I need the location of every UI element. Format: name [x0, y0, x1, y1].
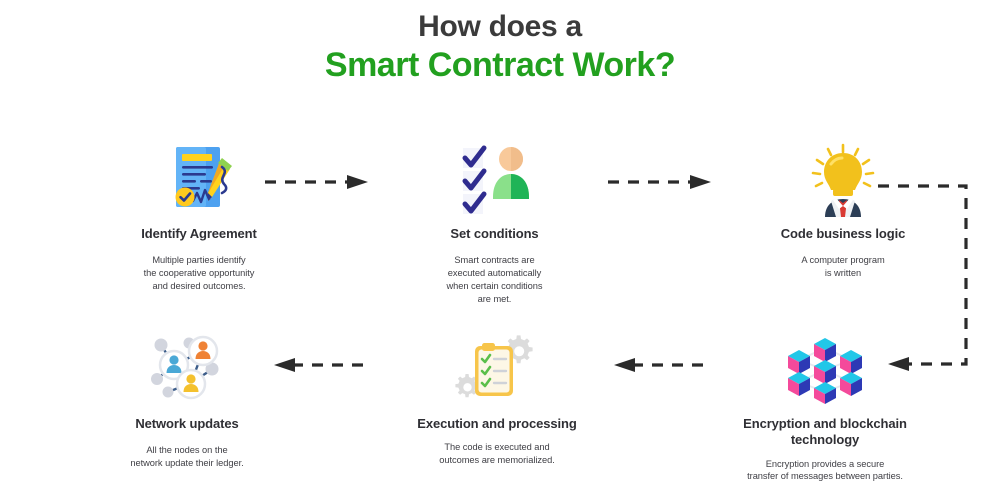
step-set-conditions: Set conditions Smart contracts areexecut…	[402, 140, 587, 306]
step-description: Encryption provides a securetransfer of …	[700, 458, 950, 484]
step-description: The code is executed andoutcomes are mem…	[392, 441, 602, 467]
page-title: How does a Smart Contract Work?	[0, 10, 1000, 85]
step-network-updates: Network updates All the nodes on thenetw…	[72, 330, 302, 470]
step-title: Identify Agreement	[79, 226, 319, 242]
step-title: Code business logic	[718, 226, 968, 242]
title-line-1: How does a	[0, 10, 1000, 43]
blockchain-cubes-icon	[700, 330, 950, 410]
clipboard-gears-icon	[392, 330, 602, 410]
title-line-2: Smart Contract Work?	[0, 46, 1000, 85]
step-identify-agreement: Identify Agreement Multiple parties iden…	[79, 140, 319, 293]
step-title: Execution and processing	[392, 416, 602, 432]
arrow-step2-to-step3	[608, 172, 713, 192]
arrow-step6-to-step5	[612, 355, 712, 375]
checklist-person-icon	[402, 140, 587, 220]
signed-document-pen-icon	[79, 140, 319, 220]
step-description: A computer programis written	[718, 254, 968, 280]
lightbulb-businessman-icon	[718, 140, 968, 220]
step-description: Multiple parties identifythe cooperative…	[79, 254, 319, 292]
step-title: Set conditions	[402, 226, 587, 242]
network-nodes-people-icon	[72, 330, 302, 410]
step-execution-and-processing: Execution and processing The code is exe…	[392, 330, 602, 467]
step-title: Encryption and blockchaintechnology	[700, 416, 950, 449]
step-description: All the nodes on thenetwork update their…	[72, 444, 302, 470]
infographic-canvas: How does a Smart Contract Work?	[0, 0, 1000, 500]
step-title: Network updates	[72, 416, 302, 432]
step-encryption-and-blockchain: Encryption and blockchaintechnology Encr…	[700, 330, 950, 483]
step-description: Smart contracts areexecuted automaticall…	[402, 254, 587, 305]
step-code-business-logic: Code business logic A computer programis…	[718, 140, 968, 280]
